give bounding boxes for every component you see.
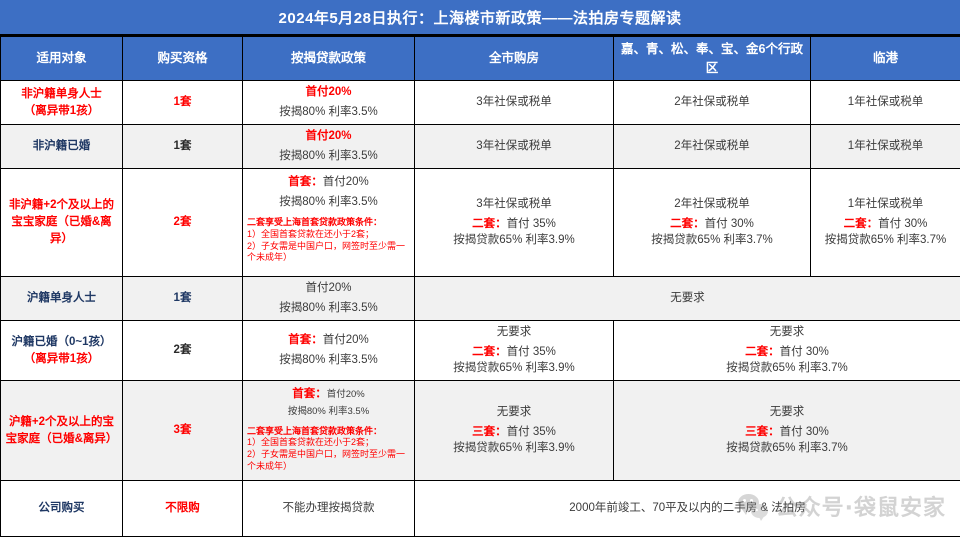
- merged-second-rate: 按揭贷款65% 利率3.7%: [618, 360, 956, 377]
- loan-second-line: 按揭80% 利率3.5%: [247, 406, 410, 419]
- table-row: 非沪籍单身人士 （离异带1孩） 1套 首付20% 按揭80% 利率3.5% 3年…: [1, 81, 960, 125]
- third-home-label: 三套：: [745, 426, 780, 438]
- cell-qualification: 1套: [123, 125, 243, 169]
- cell-merged-districts-lingang: 无要求 三套：首付 30% 按揭贷款65% 利率3.7%: [614, 381, 960, 481]
- qualification-value: 1套: [174, 292, 192, 304]
- citywide-requirement: 无要求: [419, 324, 609, 341]
- second-home-conditions: 二套享受上海首套贷款政策条件： 1）全国首套贷款在还小于2套； 2）子女需是中国…: [247, 426, 410, 473]
- cell-merged-requirement: 无要求: [415, 277, 960, 321]
- subject-line-2: （离异带1孩）: [5, 351, 118, 368]
- first-home-label: 首套：: [288, 334, 323, 346]
- cell-mortgage: 首套：首付20% 按揭80% 利率3.5% 二套享受上海首套贷款政策条件： 1）…: [243, 381, 415, 481]
- districts-requirement: 2年社保或税单: [618, 196, 806, 213]
- cell-subject: 沪籍单身人士: [1, 277, 123, 321]
- policy-table-sheet: 2024年5月28日执行：上海楼市新政策——法拍房专题解读 适用对象 购买资格 …: [0, 0, 960, 540]
- loan-second-line: 按揭80% 利率3.5%: [247, 148, 410, 165]
- citywide-second-home: 二套：首付 35%: [419, 344, 609, 361]
- header-subject[interactable]: 适用对象: [1, 37, 123, 81]
- loan-second-line: 按揭80% 利率3.5%: [247, 352, 410, 369]
- second-home-down: 首付 30%: [878, 218, 927, 230]
- cell-mortgage: 首套：首付20% 按揭80% 利率3.5% 二套享受上海首套贷款政策条件： 1）…: [243, 169, 415, 277]
- cell-six-districts: 2年社保或税单: [614, 125, 811, 169]
- first-home-value: 首付20%: [323, 176, 369, 188]
- citywide-second-rate: 按揭贷款65% 利率3.9%: [419, 360, 609, 377]
- cell-mortgage: 首付20% 按揭80% 利率3.5%: [243, 81, 415, 125]
- second-home-label: 二套：: [745, 346, 780, 358]
- cell-subject: 公司购买: [1, 481, 123, 537]
- first-home-label: 首套：: [288, 176, 323, 188]
- cell-subject: 沪籍已婚（0~1孩） （离异带1孩）: [1, 321, 123, 381]
- cell-lingang: 1年社保或税单: [811, 81, 960, 125]
- cell-mortgage: 首付20% 按揭80% 利率3.5%: [243, 277, 415, 321]
- table-row: 非沪籍已婚 1套 首付20% 按揭80% 利率3.5% 3年社保或税单 2年社保…: [1, 125, 960, 169]
- condition-item-1: 1）全国首套贷款在还小于2套；: [247, 437, 410, 449]
- cell-qualification: 2套: [123, 321, 243, 381]
- qualification-value: 2套: [174, 216, 192, 228]
- cell-citywide: 无要求 三套：首付 35% 按揭贷款65% 利率3.9%: [415, 381, 614, 481]
- header-citywide[interactable]: 全市购房: [415, 37, 614, 81]
- cell-citywide: 3年社保或税单: [415, 81, 614, 125]
- table-header-row: 适用对象 购买资格 按揭贷款政策 全市购房 嘉、青、松、奉、宝、金6个行政区 临…: [1, 37, 960, 81]
- merged-requirement: 无要求: [618, 324, 956, 341]
- subject-line-1: 沪籍已婚（0~1孩）: [5, 334, 118, 351]
- loan-first-line: 首付20%: [247, 84, 410, 101]
- second-home-down: 首付 30%: [780, 346, 829, 358]
- cell-citywide: 无要求 二套：首付 35% 按揭贷款65% 利率3.9%: [415, 321, 614, 381]
- table-row: 非沪籍+2个及以上的宝宝家庭（已婚&离异） 2套 首套：首付20% 按揭80% …: [1, 169, 960, 277]
- loan-second-line: 按揭80% 利率3.5%: [247, 300, 410, 317]
- header-lingang[interactable]: 临港: [811, 37, 960, 81]
- cell-mortgage: 不能办理按揭贷款: [243, 481, 415, 537]
- third-home-label: 三套：: [472, 426, 507, 438]
- citywide-second-home: 二套：首付 35%: [419, 216, 609, 233]
- districts-second-home: 二套：首付 30%: [618, 216, 806, 233]
- cell-mortgage: 首付20% 按揭80% 利率3.5%: [243, 125, 415, 169]
- loan-second-line: 按揭80% 利率3.5%: [247, 194, 410, 211]
- condition-item-1: 1）全国首套贷款在还小于2套；: [247, 229, 410, 241]
- first-home-value: 首付20%: [327, 389, 365, 400]
- header-six-districts[interactable]: 嘉、青、松、奉、宝、金6个行政区: [614, 37, 811, 81]
- subject-line-1: 非沪籍+2个及以上的宝宝家庭（已婚&离异）: [5, 197, 118, 247]
- cell-qualification: 1套: [123, 277, 243, 321]
- cell-merged-districts-lingang: 无要求 二套：首付 30% 按揭贷款65% 利率3.7%: [614, 321, 960, 381]
- lingang-requirement: 1年社保或税单: [815, 196, 956, 213]
- merged-second-home: 二套：首付 30%: [618, 344, 956, 361]
- first-home-value: 首付20%: [323, 334, 369, 346]
- districts-second-rate: 按揭贷款65% 利率3.7%: [618, 232, 806, 249]
- condition-item-2: 2）子女需是中国户口，网签时至少需一个未成年）: [247, 449, 410, 472]
- cell-six-districts: 2年社保或税单 二套：首付 30% 按揭贷款65% 利率3.7%: [614, 169, 811, 277]
- second-home-down: 首付 35%: [507, 218, 556, 230]
- cell-subject: 非沪籍+2个及以上的宝宝家庭（已婚&离异）: [1, 169, 123, 277]
- second-home-label: 二套：: [472, 346, 507, 358]
- cell-mortgage: 首套：首付20% 按揭80% 利率3.5%: [243, 321, 415, 381]
- subject-line-1: 公司购买: [5, 500, 118, 517]
- second-home-down: 首付 30%: [705, 218, 754, 230]
- cell-qualification: 3套: [123, 381, 243, 481]
- cell-lingang: 1年社保或税单 二套：首付 30% 按揭贷款65% 利率3.7%: [811, 169, 960, 277]
- citywide-requirement: 无要求: [419, 404, 609, 421]
- table-row: 公司购买 不限购 不能办理按揭贷款 2000年前竣工、70平及以内的二手房 & …: [1, 481, 960, 537]
- merged-third-home: 三套：首付 30%: [618, 424, 956, 441]
- conditions-title: 二套享受上海首套贷款政策条件：: [247, 426, 410, 438]
- cell-citywide: 3年社保或税单: [415, 125, 614, 169]
- cell-qualification: 不限购: [123, 481, 243, 537]
- table-row: 沪籍单身人士 1套 首付20% 按揭80% 利率3.5% 无要求: [1, 277, 960, 321]
- second-home-label: 二套：: [670, 218, 705, 230]
- conditions-title: 二套享受上海首套贷款政策条件：: [247, 217, 410, 229]
- cell-subject: 非沪籍已婚: [1, 125, 123, 169]
- loan-note: 不能办理按揭贷款: [283, 502, 375, 514]
- cell-qualification: 2套: [123, 169, 243, 277]
- cell-lingang: 1年社保或税单: [811, 125, 960, 169]
- merged-third-rate: 按揭贷款65% 利率3.7%: [618, 440, 956, 457]
- lingang-second-rate: 按揭贷款65% 利率3.7%: [815, 232, 956, 249]
- qualification-value: 不限购: [165, 502, 200, 514]
- cell-citywide: 3年社保或税单 二套：首付 35% 按揭贷款65% 利率3.9%: [415, 169, 614, 277]
- qualification-value: 1套: [174, 140, 192, 152]
- loan-first-line: 首付20%: [247, 280, 410, 297]
- cell-merged-property-scope: 2000年前竣工、70平及以内的二手房 & 法拍房: [415, 481, 960, 537]
- loan-first-line: 首套：首付20%: [247, 174, 410, 191]
- citywide-second-rate: 按揭贷款65% 利率3.9%: [419, 232, 609, 249]
- third-home-down: 首付 30%: [780, 426, 829, 438]
- table-row: 沪籍+2个及以上的宝宝家庭（已婚&离异） 3套 首套：首付20% 按揭80% 利…: [1, 381, 960, 481]
- citywide-requirement: 3年社保或税单: [419, 196, 609, 213]
- second-home-label: 二套：: [472, 218, 507, 230]
- loan-first-line: 首付20%: [247, 128, 410, 145]
- citywide-third-rate: 按揭贷款65% 利率3.9%: [419, 440, 609, 457]
- loan-first-line: 首套：首付20%: [247, 386, 410, 403]
- table-row: 沪籍已婚（0~1孩） （离异带1孩） 2套 首套：首付20% 按揭80% 利率3…: [1, 321, 960, 381]
- subject-line-1: 沪籍+2个及以上的宝宝家庭（已婚&离异）: [5, 414, 118, 447]
- subject-line-1: 非沪籍单身人士: [5, 86, 118, 103]
- first-home-label: 首套：: [292, 388, 327, 400]
- header-mortgage-policy[interactable]: 按揭贷款政策: [243, 37, 415, 81]
- qualification-value: 3套: [174, 424, 192, 436]
- policy-table: 适用对象 购买资格 按揭贷款政策 全市购房 嘉、青、松、奉、宝、金6个行政区 临…: [0, 36, 960, 537]
- second-home-label: 二套：: [844, 218, 879, 230]
- qualification-value: 2套: [174, 344, 192, 356]
- cell-subject: 非沪籍单身人士 （离异带1孩）: [1, 81, 123, 125]
- lingang-second-home: 二套：首付 30%: [815, 216, 956, 233]
- second-home-down: 首付 35%: [507, 346, 556, 358]
- loan-second-line: 按揭80% 利率3.5%: [247, 104, 410, 121]
- subject-line-2: （离异带1孩）: [5, 103, 118, 120]
- cell-qualification: 1套: [123, 81, 243, 125]
- cell-six-districts: 2年社保或税单: [614, 81, 811, 125]
- subject-line-1: 沪籍单身人士: [5, 290, 118, 307]
- cell-subject: 沪籍+2个及以上的宝宝家庭（已婚&离异）: [1, 381, 123, 481]
- page-title: 2024年5月28日执行：上海楼市新政策——法拍房专题解读: [0, 0, 960, 36]
- third-home-down: 首付 35%: [507, 426, 556, 438]
- citywide-third-home: 三套：首付 35%: [419, 424, 609, 441]
- merged-requirement: 无要求: [618, 404, 956, 421]
- header-qualification[interactable]: 购买资格: [123, 37, 243, 81]
- loan-first-line: 首套：首付20%: [247, 332, 410, 349]
- qualification-value: 1套: [174, 96, 192, 108]
- subject-line-1: 非沪籍已婚: [5, 138, 118, 155]
- condition-item-2: 2）子女需是中国户口，网签时至少需一个未成年）: [247, 241, 410, 264]
- second-home-conditions: 二套享受上海首套贷款政策条件： 1）全国首套贷款在还小于2套； 2）子女需是中国…: [247, 217, 410, 264]
